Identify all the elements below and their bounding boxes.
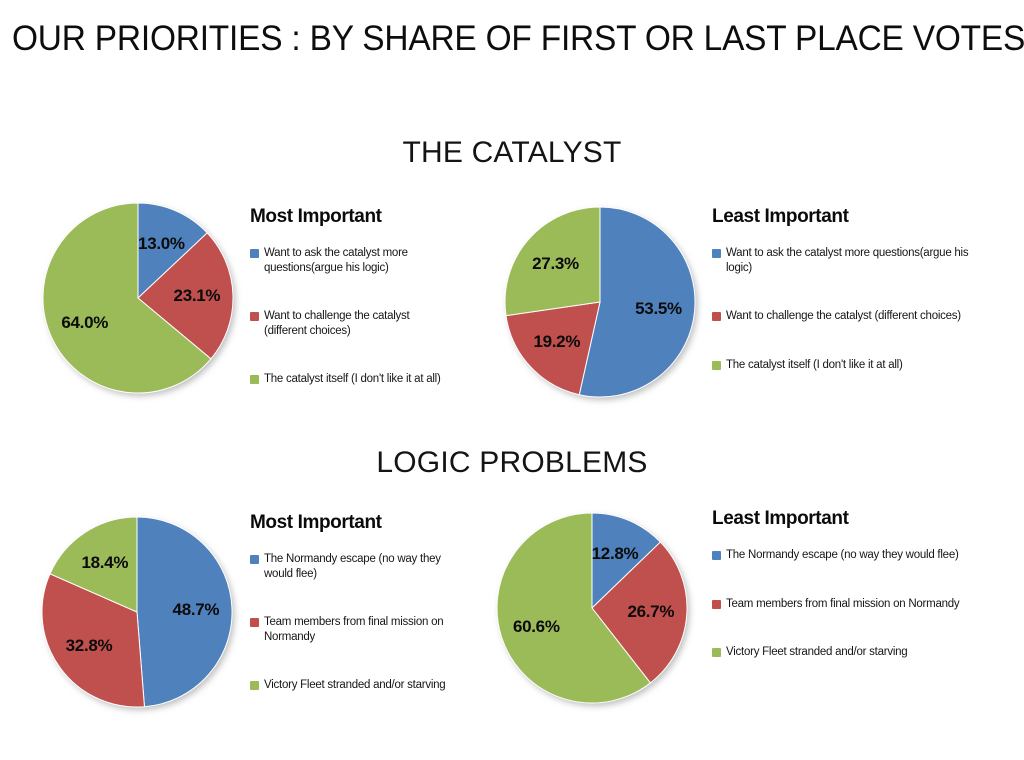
pie-slice-label: 64.0% [61,313,108,333]
legend-item-label: Team members from final mission on Norma… [264,615,450,644]
slide-canvas: OUR PRIORITIES : BY SHARE OF FIRST OR LA… [0,0,1024,760]
legend-item-label: Victory Fleet stranded and/or starving [726,645,907,660]
section-heading-catalyst: THE CATALYST [0,136,1024,170]
legend-swatch-icon [250,375,259,384]
pie-slice-label: 27.3% [532,254,579,274]
legend-item[interactable]: Victory Fleet stranded and/or starving [250,678,450,693]
legend-swatch-icon [712,600,721,609]
legend-title: Most Important [250,512,450,534]
legend-item-label: Want to ask the catalyst more questions(… [264,246,450,275]
legend-item[interactable]: The catalyst itself (I don't like it at … [712,358,992,373]
legend-swatch-icon [250,681,259,690]
legend-item[interactable]: The Normandy escape (no way they would f… [250,552,450,581]
legend-item-label: The catalyst itself (I don't like it at … [726,358,903,373]
legend-item-label: The catalyst itself (I don't like it at … [264,372,441,387]
section-heading-logic-problems: LOGIC PROBLEMS [0,446,1024,480]
legend-swatch-icon [712,648,721,657]
legend-swatch-icon [712,361,721,370]
legend-swatch-icon [712,249,721,258]
legend-item-label: Team members from final mission on Norma… [726,597,959,612]
legend-item[interactable]: Victory Fleet stranded and/or starving [712,645,992,660]
pie-slice-label: 53.5% [635,299,682,319]
page-title: OUR PRIORITIES : BY SHARE OF FIRST OR LA… [12,18,967,60]
legend-item-label: The Normandy escape (no way they would f… [726,548,959,563]
chart-legend: Least Important The Normandy escape (no … [712,508,992,660]
pie-slice-label: 23.1% [174,286,221,306]
pie-graphic: 12.8%26.7%60.6% [494,510,690,706]
legend-item[interactable]: The catalyst itself (I don't like it at … [250,372,450,387]
legend-item-label: The Normandy escape (no way they would f… [264,552,450,581]
legend-title: Least Important [712,206,992,228]
chart-legend: Most Important The Normandy escape (no w… [250,512,450,693]
pie-slice-label: 60.6% [513,617,560,637]
legend-item-label: Want to challenge the catalyst (differen… [726,309,961,324]
legend-item[interactable]: Want to challenge the catalyst (differen… [712,309,992,324]
pie-slice-label: 19.2% [533,332,580,352]
pie-graphic: 13.0%23.1%64.0% [40,200,236,396]
legend-item[interactable]: Team members from final mission on Norma… [250,615,450,644]
pie-graphic: 48.7%32.8%18.4% [39,514,235,710]
legend-item[interactable]: Want to ask the catalyst more questions(… [712,246,992,275]
legend-title: Least Important [712,508,992,530]
chart-legend: Least Important Want to ask the catalyst… [712,206,992,372]
pie-graphic: 53.5%19.2%27.3% [502,204,698,400]
legend-swatch-icon [250,312,259,321]
pie-slice-label: 26.7% [627,602,674,622]
legend-item[interactable]: The Normandy escape (no way they would f… [712,548,992,563]
legend-item[interactable]: Want to ask the catalyst more questions(… [250,246,450,275]
legend-swatch-icon [250,555,259,564]
legend-item-label: Victory Fleet stranded and/or starving [264,678,445,693]
pie-slice-label: 48.7% [173,600,220,620]
legend-item[interactable]: Want to challenge the catalyst (differen… [250,309,450,338]
legend-item[interactable]: Team members from final mission on Norma… [712,597,992,612]
pie-slice-label: 12.8% [592,544,639,564]
legend-swatch-icon [712,551,721,560]
legend-swatch-icon [712,312,721,321]
legend-title: Most Important [250,206,450,228]
pie-slice-label: 13.0% [138,234,185,254]
legend-swatch-icon [250,249,259,258]
legend-item-label: Want to ask the catalyst more questions(… [726,246,992,275]
pie-slice-label: 18.4% [81,553,128,573]
pie-slice-label: 32.8% [66,636,113,656]
legend-item-label: Want to challenge the catalyst (differen… [264,309,450,338]
chart-legend: Most Important Want to ask the catalyst … [250,206,450,387]
legend-swatch-icon [250,618,259,627]
